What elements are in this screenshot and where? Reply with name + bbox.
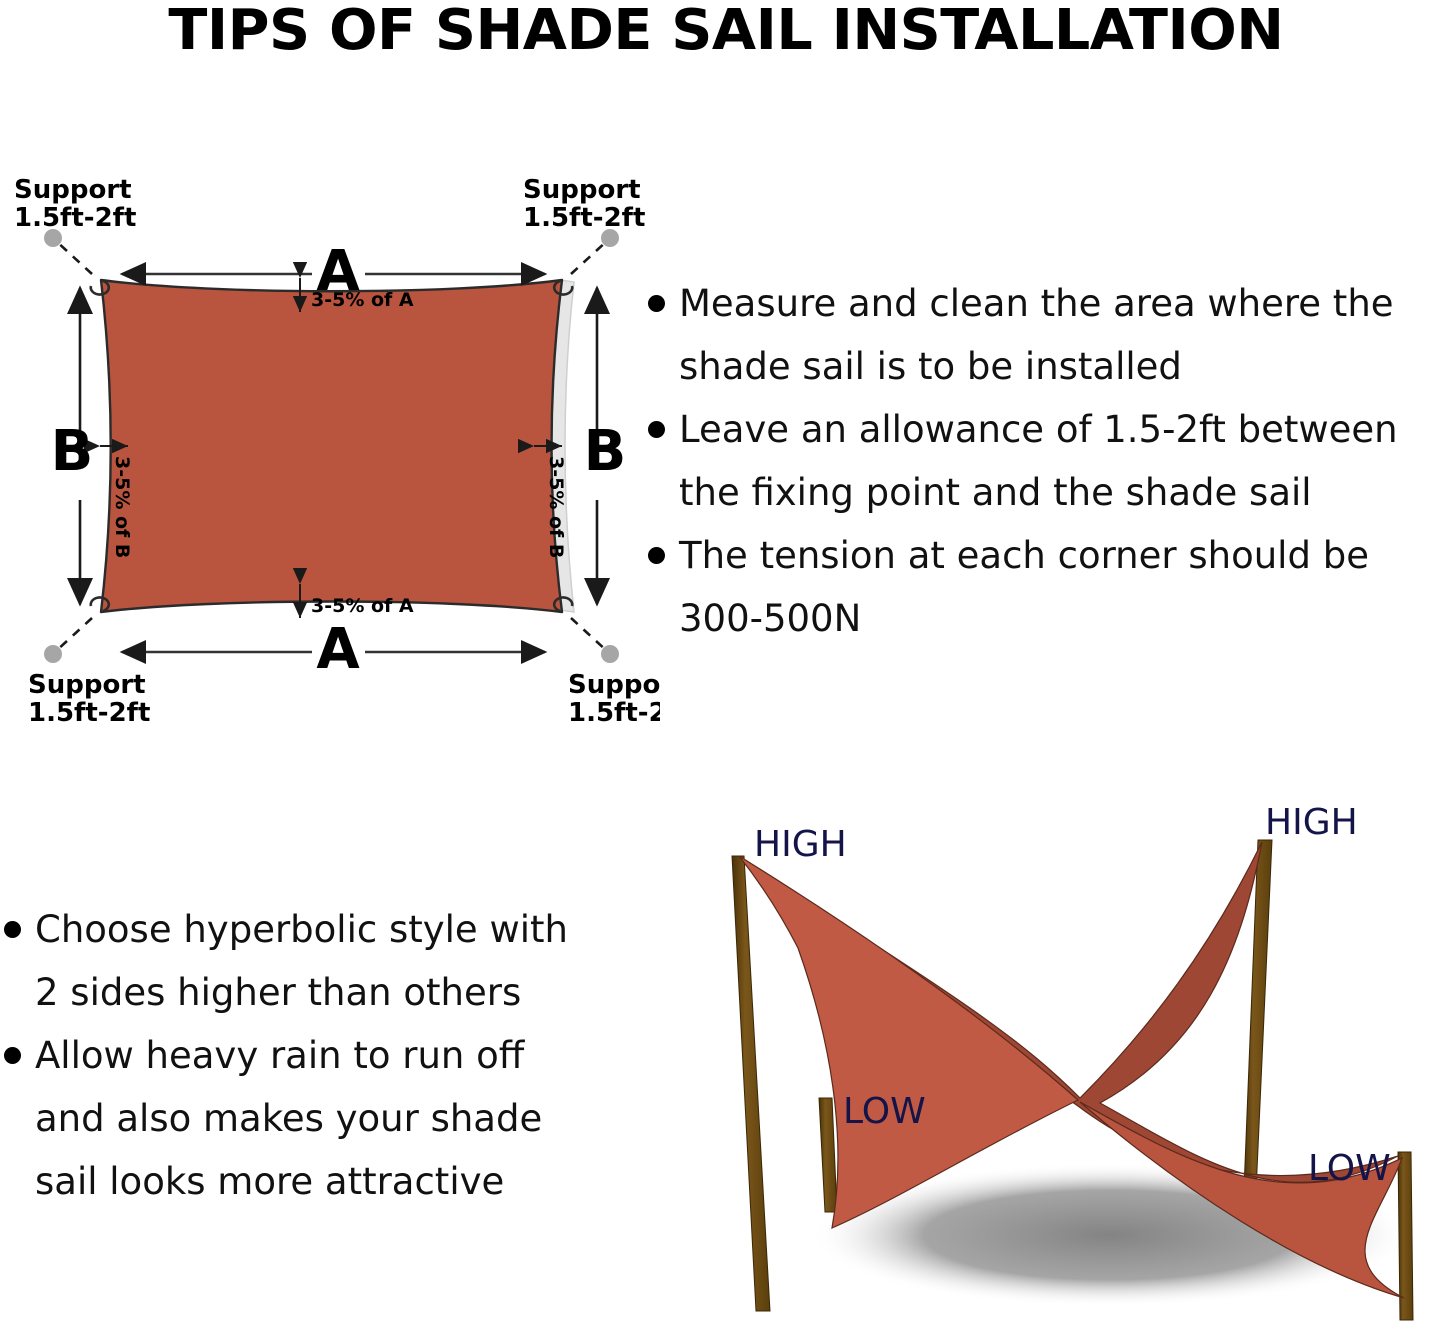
dim-label-right-b: B [584, 419, 627, 484]
sail-body [101, 280, 562, 612]
pole-low-right [1398, 1152, 1413, 1320]
sag-label-bottom: 3-5% of A [311, 595, 414, 617]
support-label-top-right: Support 1.5ft-2ft [523, 175, 645, 233]
list-item: Choose hyperbolic style with [4, 898, 634, 961]
list-item-label: and also makes your shade [35, 1087, 634, 1150]
label-high-left: HIGH [754, 824, 847, 865]
list-item: The tension at each corner should be [648, 524, 1452, 587]
label-high-right: HIGH [1265, 802, 1358, 843]
support-line-top-left [55, 240, 92, 274]
support-label-line1: Support [14, 175, 132, 205]
list-item: Measure and clean the area where the [648, 272, 1452, 335]
list-item-label: The tension at each corner should be [679, 524, 1452, 587]
bullet-spacer [4, 984, 21, 1001]
bullet-spacer [648, 610, 665, 627]
tips-bottom-list: Choose hyperbolic style with 2 sides hig… [4, 898, 634, 1213]
list-item-continuation: and also makes your shade [4, 1087, 634, 1150]
list-item: Allow heavy rain to run off [4, 1024, 634, 1087]
tips-top-list: Measure and clean the area where the sha… [648, 272, 1452, 650]
sag-label-left: 3-5% of B [111, 456, 133, 558]
list-item-continuation: the fixing point and the shade sail [648, 461, 1452, 524]
support-line-bottom-right [571, 618, 608, 652]
dim-label-left-b: B [51, 419, 94, 484]
pole-low-left [819, 1098, 837, 1212]
label-low-left: LOW [843, 1091, 926, 1132]
support-label-top-left: Support 1.5ft-2ft [14, 175, 136, 233]
support-line-bottom-left [55, 618, 92, 652]
support-label-line1: Support [568, 670, 660, 700]
page-title: TIPS OF SHADE SAIL INSTALLATION [0, 0, 1452, 62]
list-item-label: Choose hyperbolic style with [35, 898, 634, 961]
list-item-continuation: 2 sides higher than others [4, 961, 634, 1024]
support-dot-bottom-left [44, 645, 62, 663]
dim-label-bottom-a: A [316, 617, 360, 682]
bullet-dot-icon [4, 921, 21, 938]
support-label-line1: Support [523, 175, 641, 205]
bullet-dot-icon [648, 295, 665, 312]
list-item-label: Leave an allowance of 1.5-2ft between [679, 398, 1452, 461]
list-item-label: the fixing point and the shade sail [679, 461, 1452, 524]
sag-label-top: 3-5% of A [311, 289, 414, 311]
list-item-continuation: 300-500N [648, 587, 1452, 650]
list-item-label: Allow heavy rain to run off [35, 1024, 634, 1087]
bullet-dot-icon [648, 421, 665, 438]
support-label-line1: Support [28, 670, 146, 700]
label-low-right: LOW [1308, 1148, 1391, 1189]
list-item-label: Measure and clean the area where the [679, 272, 1452, 335]
list-item: Leave an allowance of 1.5-2ft between [648, 398, 1452, 461]
sag-label-right: 3-5% of B [545, 456, 567, 558]
support-dot-bottom-right [601, 645, 619, 663]
bullet-spacer [648, 484, 665, 501]
bullet-dot-icon [648, 547, 665, 564]
list-item-continuation: sail looks more attractive [4, 1150, 634, 1213]
support-label-line2: 1.5ft-2ft [523, 203, 645, 233]
pole-high-left [732, 856, 770, 1311]
list-item-label: 300-500N [679, 587, 1452, 650]
list-item-continuation: shade sail is to be installed [648, 335, 1452, 398]
support-label-line2: 1.5ft-2ft [14, 203, 136, 233]
support-label-bottom-left: Support 1.5ft-2ft [28, 670, 150, 728]
list-item-label: 2 sides higher than others [35, 961, 634, 1024]
support-line-top-right [571, 240, 608, 274]
support-label-line2: 1.5ft-2ft [568, 698, 660, 728]
bullet-spacer [4, 1110, 21, 1127]
support-label-bottom-right: Support 1.5ft-2ft [568, 670, 660, 728]
bullet-dot-icon [4, 1047, 21, 1064]
bullet-spacer [648, 358, 665, 375]
support-label-line2: 1.5ft-2ft [28, 698, 150, 728]
list-item-label: shade sail is to be installed [679, 335, 1452, 398]
hyperbolic-sail-diagram: HIGH HIGH LOW LOW [680, 798, 1452, 1325]
bullet-spacer [4, 1173, 21, 1190]
list-item-label: sail looks more attractive [35, 1150, 634, 1213]
rect-sail-diagram: A A B B 3-5% of A 3-5% of A 3-5% of B 3-… [0, 160, 660, 740]
